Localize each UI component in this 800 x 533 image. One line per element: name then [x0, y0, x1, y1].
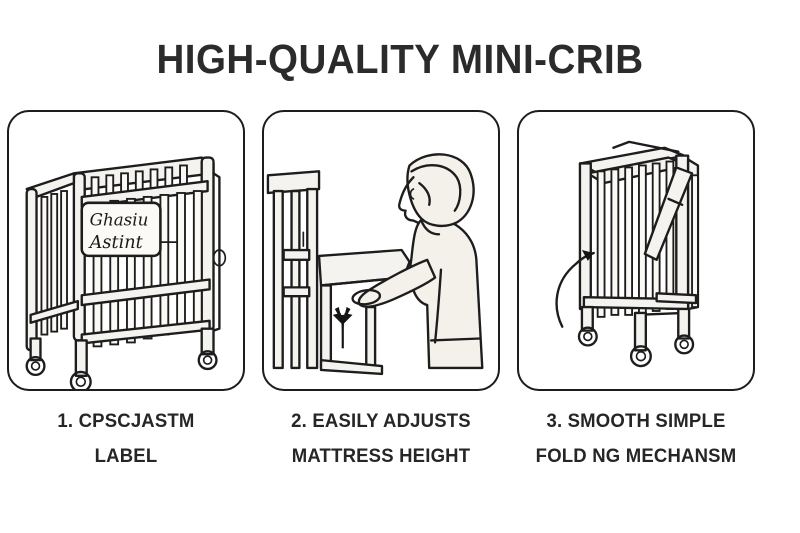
- mini-crib-illustration: Ghasiu Astint: [9, 112, 243, 389]
- captions-row: 1. CPSCJASTM LABEL 2. EASILY ADJUSTS MAT…: [7, 404, 755, 474]
- panel-mattress-height: [262, 110, 500, 391]
- page-title: HIGH-QUALITY MINI-CRIB: [24, 36, 776, 83]
- caption-panel-2: 2. EASILY ADJUSTS MATTRESS HEIGHT: [268, 404, 494, 474]
- panel-crib-label: Ghasiu Astint: [7, 110, 245, 391]
- caption-3-line-2: FOLD NG MECHANSM: [523, 439, 749, 474]
- panel-folding: [517, 110, 755, 391]
- caption-2-line-2: MATTRESS HEIGHT: [268, 439, 494, 474]
- caster-wheels: [27, 351, 217, 389]
- height-adjust-mark: [333, 307, 353, 348]
- caption-2-line-1: 2. EASILY ADJUSTS: [268, 404, 494, 439]
- mattress-adjust-illustration: [264, 112, 498, 389]
- panels-row: Ghasiu Astint: [7, 110, 755, 391]
- folded-crib-illustration: [519, 112, 753, 389]
- caption-panel-1: 1. CPSCJASTM LABEL: [13, 404, 239, 474]
- caption-panel-3: 3. SMOOTH SIMPLE FOLD NG MECHANSM: [523, 404, 749, 474]
- label-line-1: Ghasiu: [90, 209, 149, 229]
- caption-1-line-1: 1. CPSCJASTM: [13, 404, 239, 439]
- caption-3-line-1: 3. SMOOTH SIMPLE: [523, 404, 749, 439]
- label-line-2: Astint: [88, 233, 144, 253]
- caption-1-line-2: LABEL: [13, 439, 239, 474]
